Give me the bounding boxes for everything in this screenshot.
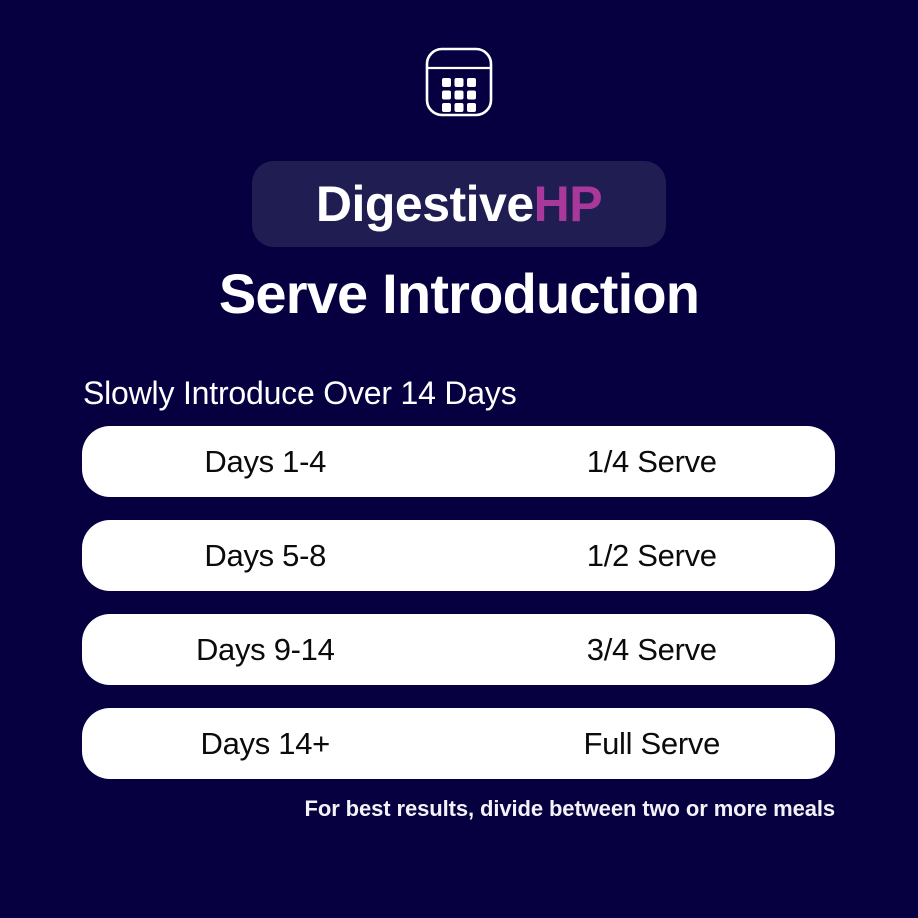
row-amount: Full Serve: [459, 728, 836, 759]
page-title: Serve Introduction: [0, 262, 918, 326]
row-amount: 1/4 Serve: [459, 446, 836, 477]
brand-badge: DigestiveHP: [252, 161, 666, 247]
brand-name-suffix: HP: [534, 176, 602, 232]
row-period: Days 9-14: [82, 634, 459, 665]
schedule-list: Days 1-4 1/4 Serve Days 5-8 1/2 Serve Da…: [82, 426, 835, 779]
row-period: Days 14+: [82, 728, 459, 759]
schedule-row: Days 5-8 1/2 Serve: [82, 520, 835, 591]
row-period: Days 5-8: [82, 540, 459, 571]
calendar-grid-icon: [423, 44, 495, 120]
schedule-row: Days 9-14 3/4 Serve: [82, 614, 835, 685]
row-period: Days 1-4: [82, 446, 459, 477]
brand-name-main: Digestive: [316, 176, 534, 232]
footer-note: For best results, divide between two or …: [82, 796, 835, 822]
row-amount: 3/4 Serve: [459, 634, 836, 665]
section-label: Slowly Introduce Over 14 Days: [83, 374, 517, 412]
schedule-row: Days 1-4 1/4 Serve: [82, 426, 835, 497]
header-icon-container: [0, 44, 918, 120]
serve-introduction-card: DigestiveHP Serve Introduction Slowly In…: [0, 0, 918, 918]
schedule-row: Days 14+ Full Serve: [82, 708, 835, 779]
brand-name: DigestiveHP: [316, 179, 602, 229]
row-amount: 1/2 Serve: [459, 540, 836, 571]
